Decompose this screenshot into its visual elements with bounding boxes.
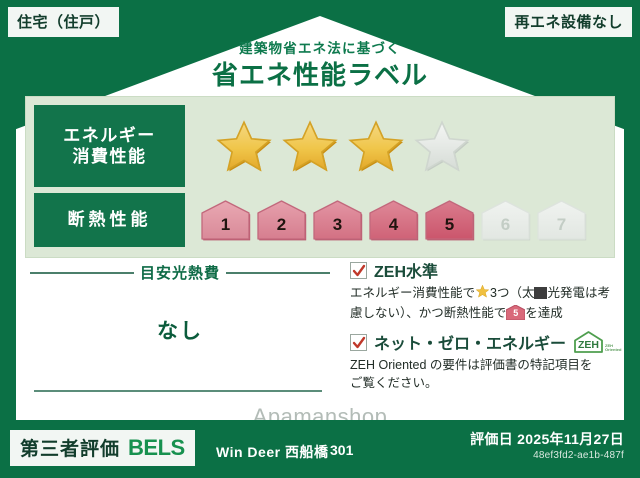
zeh-block: ZEH水準 エネルギー消費性能で3つ（太光発電は考慮しない）、かつ断熱性能で5を… bbox=[350, 258, 612, 400]
zeh-desc-part2: 3つ（太 bbox=[490, 286, 534, 300]
zeh-logo-sub2: Oriented bbox=[605, 347, 621, 352]
title-subtitle: 建築物省エネ法に基づく bbox=[0, 42, 640, 57]
star-filled-icon bbox=[215, 118, 273, 174]
energy-label-line2: 消費性能 bbox=[73, 146, 147, 167]
zeh-logo-icon: ZEH bbox=[573, 330, 604, 354]
insulation-level-4: 4 bbox=[367, 198, 420, 242]
insulation-performance-label-box: 断熱性能 bbox=[34, 193, 185, 247]
zeh-standard-header: ZEH水準 bbox=[350, 258, 612, 282]
property-room-number: 301 bbox=[330, 442, 353, 458]
evaluation-date: 評価日 2025年11月27日 bbox=[470, 429, 624, 449]
utility-cost-block: 目安光熱費 なし bbox=[30, 262, 330, 400]
zeh-house-logo: ZEH ZEH Oriented bbox=[573, 330, 621, 354]
insulation-level-5: 5 bbox=[423, 198, 476, 242]
bels-badge-jp: 第三者評価 bbox=[20, 434, 120, 461]
insulation-level-2: 2 bbox=[255, 198, 308, 242]
inline-insulation-chip: 5 bbox=[506, 305, 525, 320]
bels-badge: 第三者評価 BELS bbox=[10, 430, 195, 466]
house-filled-icon bbox=[423, 198, 476, 242]
title-main: 省エネ性能ラベル bbox=[0, 61, 640, 90]
insulation-level-7: 7 bbox=[535, 198, 588, 242]
star-rating bbox=[215, 118, 471, 174]
star-empty-icon bbox=[413, 118, 471, 174]
utility-cost-value: なし bbox=[30, 315, 330, 345]
house-filled-icon bbox=[311, 198, 364, 242]
star-filled-icon bbox=[281, 118, 339, 174]
tag-renewable-energy: 再エネ設備なし bbox=[505, 7, 632, 37]
house-filled-icon bbox=[255, 198, 308, 242]
star-filled-icon bbox=[347, 118, 405, 174]
inline-star-icon bbox=[475, 284, 490, 304]
insulation-level-6: 6 bbox=[479, 198, 532, 242]
utility-cost-heading-text: 目安光熱費 bbox=[140, 262, 220, 283]
house-filled-icon bbox=[367, 198, 420, 242]
performance-panel: エネルギー 消費性能 断熱性能 1234567 bbox=[25, 96, 615, 258]
house-empty-icon bbox=[535, 198, 588, 242]
rule-left bbox=[30, 272, 134, 274]
house-filled-icon bbox=[199, 198, 252, 242]
insulation-label-text: 断熱性能 bbox=[68, 209, 152, 230]
net-zero-energy-header: ネット・ゼロ・エネルギー ZEH ZEH Oriented bbox=[350, 330, 612, 354]
svg-text:ZEH: ZEH bbox=[578, 339, 599, 351]
energy-performance-row: エネルギー 消費性能 bbox=[34, 105, 608, 187]
zeh-logo-subtext: ZEH Oriented bbox=[605, 344, 621, 354]
zeh-standard-checkbox[interactable] bbox=[350, 262, 367, 279]
energy-label-line1: エネルギー bbox=[63, 125, 156, 146]
energy-performance-label-box: エネルギー 消費性能 bbox=[34, 105, 185, 187]
property-name: Win Deer 西船橋 bbox=[216, 442, 328, 462]
label-title: 建築物省エネ法に基づく 省エネ性能ラベル bbox=[0, 42, 640, 89]
insulation-performance-row: 断熱性能 1234567 bbox=[34, 193, 608, 247]
tag-building-type: 住宅（住戸） bbox=[8, 7, 119, 37]
inline-chip-value: 5 bbox=[506, 307, 525, 320]
bels-badge-en: BELS bbox=[128, 435, 185, 461]
check-icon bbox=[352, 264, 366, 278]
net-zero-energy-item: ネット・ゼロ・エネルギー ZEH ZEH Oriented ZEH Orient… bbox=[350, 330, 612, 392]
house-empty-icon bbox=[479, 198, 532, 242]
zeh-desc-part1: エネルギー消費性能で bbox=[350, 286, 475, 300]
energy-performance-label: 住宅（住戸） 再エネ設備なし 建築物省エネ法に基づく 省エネ性能ラベル エネルギ… bbox=[0, 0, 640, 478]
utility-cost-bottom-rule bbox=[34, 390, 322, 392]
zeh-standard-title: ZEH水準 bbox=[374, 258, 438, 282]
insulation-scale: 1234567 bbox=[199, 198, 588, 242]
zeh-standard-description: エネルギー消費性能で3つ（太光発電は考慮しない）、かつ断熱性能で5を達成 bbox=[350, 284, 612, 322]
insulation-level-3: 3 bbox=[311, 198, 364, 242]
check-icon bbox=[352, 336, 366, 350]
net-zero-energy-checkbox[interactable] bbox=[350, 334, 367, 351]
utility-cost-heading: 目安光熱費 bbox=[30, 262, 330, 283]
zeh-desc-part4: を達成 bbox=[525, 306, 563, 320]
net-zero-energy-title: ネット・ゼロ・エネルギー bbox=[374, 330, 566, 354]
zeh-standard-item: ZEH水準 エネルギー消費性能で3つ（太光発電は考慮しない）、かつ断熱性能で5を… bbox=[350, 258, 612, 322]
footer: 第三者評価 BELS Win Deer 西船橋 301 評価日 2025年11月… bbox=[0, 420, 640, 478]
net-zero-energy-description: ZEH Oriented の要件は評価書の特記項目をご覧ください。 bbox=[350, 356, 600, 392]
insulation-level-1: 1 bbox=[199, 198, 252, 242]
rule-right bbox=[226, 272, 330, 274]
evaluation-id: 48ef3fd2-ae1b-487f bbox=[533, 450, 624, 461]
redacted-box bbox=[534, 287, 547, 299]
